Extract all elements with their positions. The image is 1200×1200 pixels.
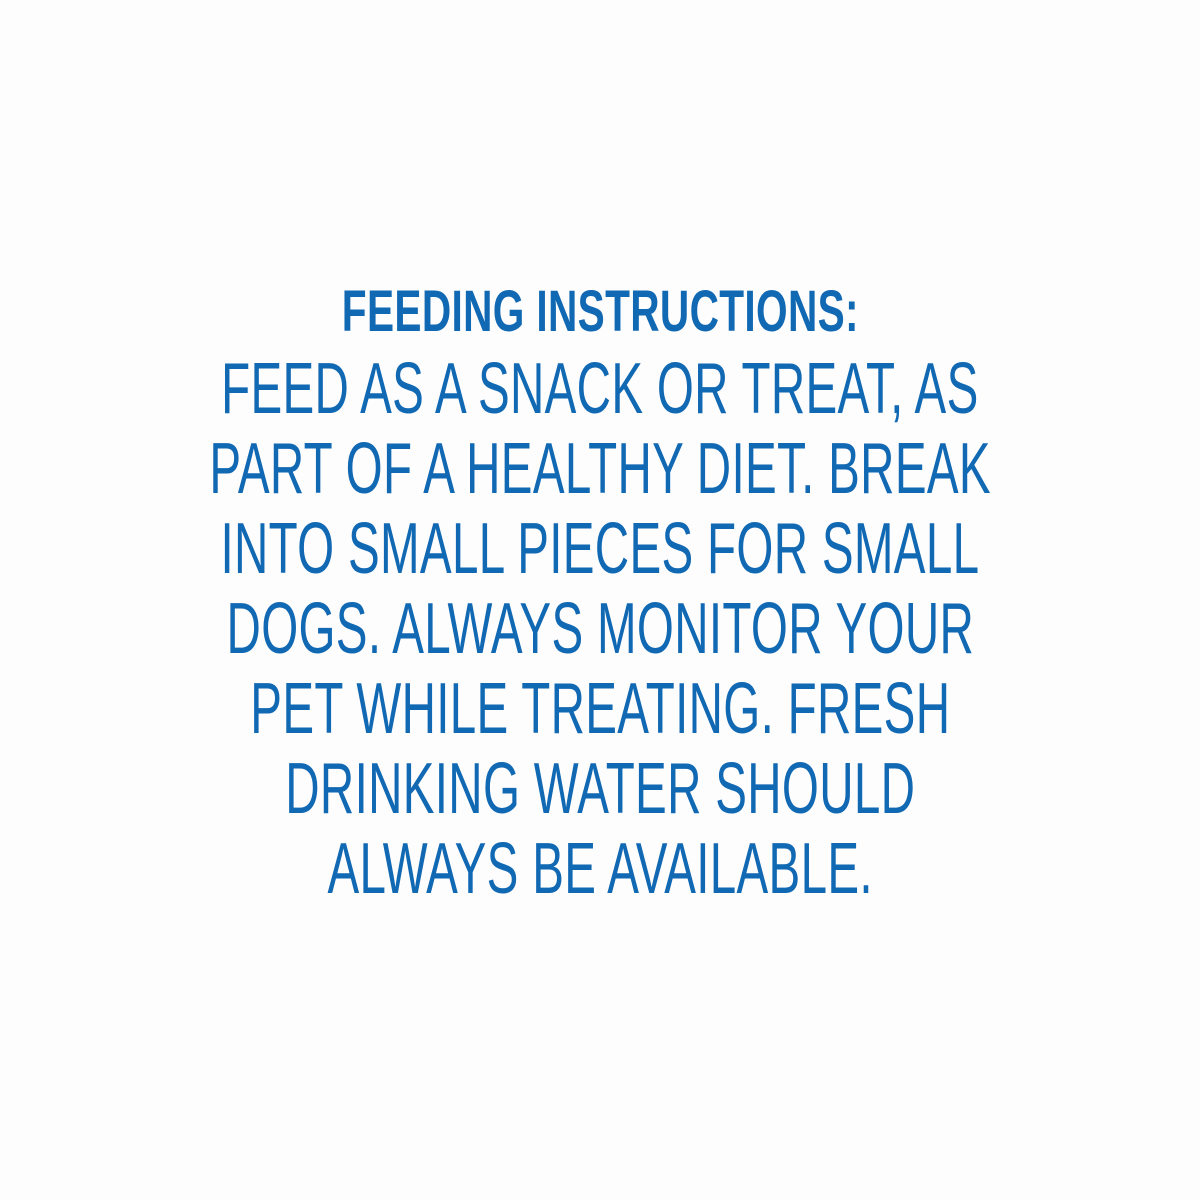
instructions-line-4: DOGS. ALWAYS MONITOR YOUR (226, 589, 974, 669)
instructions-line-1: FEED AS A SNACK OR TREAT, AS (221, 349, 978, 429)
instructions-body: FEED AS A SNACK OR TREAT, AS PART OF A H… (8, 349, 1192, 909)
instructions-line-6: DRINKING WATER SHOULD (285, 749, 915, 829)
feeding-instructions-heading: FEEDING INSTRUCTIONS: (341, 283, 858, 341)
instructions-line-7: ALWAYS BE AVAILABLE. (327, 829, 872, 909)
instructions-block: FEEDING INSTRUCTIONS: FEED AS A SNACK OR… (0, 283, 1200, 909)
instructions-line-3: INTO SMALL PIECES FOR SMALL (221, 509, 980, 589)
instructions-line-5: PET WHILE TREATING. FRESH (250, 669, 950, 749)
feeding-instructions-panel: FEEDING INSTRUCTIONS: FEED AS A SNACK OR… (0, 0, 1200, 1200)
instructions-line-2: PART OF A HEALTHY DIET. BREAK (209, 429, 991, 509)
